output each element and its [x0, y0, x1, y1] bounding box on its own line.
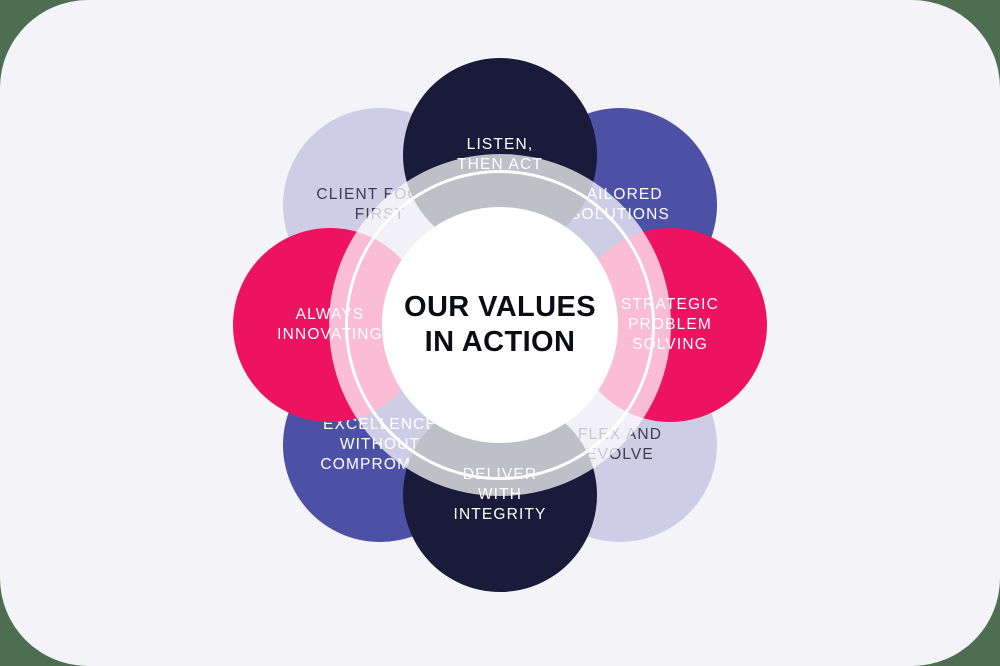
petal-label: STRATEGIC PROBLEM SOLVING	[621, 295, 719, 354]
petal-label: FLEX AND EVOLVE	[578, 425, 662, 465]
diagram-canvas: LISTEN, THEN ACT TAILORED SOLUTIONS STRA…	[0, 0, 1000, 666]
petal-label: LISTEN, THEN ACT	[457, 135, 543, 175]
center-hub: OUR VALUES IN ACTION	[382, 207, 618, 443]
petal-label: DELIVER WITH INTEGRITY	[453, 465, 546, 524]
page-title: OUR VALUES IN ACTION	[404, 290, 596, 360]
petal-label: ALWAYS INNOVATING	[277, 305, 383, 345]
values-wheel-diagram: LISTEN, THEN ACT TAILORED SOLUTIONS STRA…	[0, 0, 1000, 666]
